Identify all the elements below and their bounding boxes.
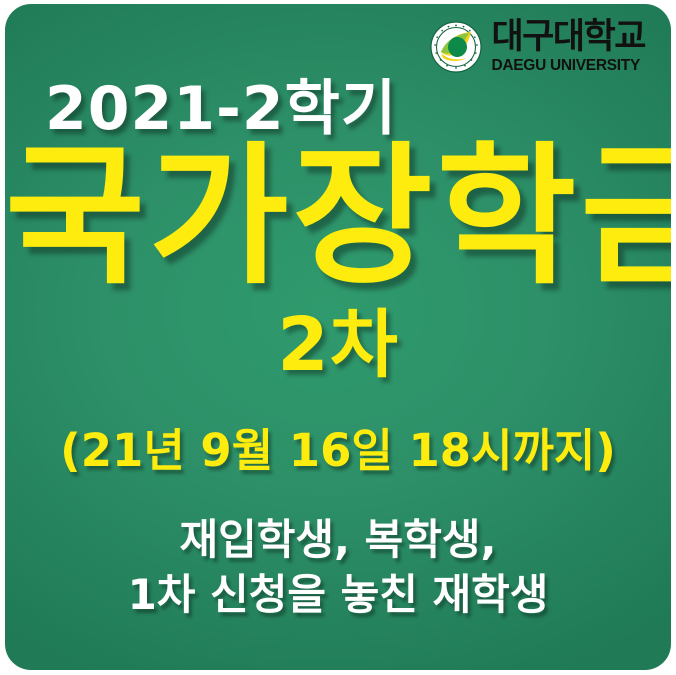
target-audience-block: 재입학생, 복학생, 1차 신청을 놓친 재학생	[5, 512, 671, 623]
scholarship-poster: 대구대학교 DAEGU UNIVERSITY 2021-2학기 국가장학금 2차…	[0, 0, 676, 675]
daegu-university-crest-icon	[430, 21, 482, 73]
poster-board: 대구대학교 DAEGU UNIVERSITY 2021-2학기 국가장학금 2차…	[5, 4, 671, 670]
target-line-2: 1차 신청을 놓친 재학생	[5, 567, 671, 622]
target-line-1: 재입학생, 복학생,	[5, 512, 671, 567]
round-label: 2차	[5, 308, 671, 382]
page-title: 국가장학금	[5, 141, 671, 293]
university-name-ko: 대구대학교	[491, 20, 645, 55]
university-name-en: DAEGU UNIVERSITY	[491, 58, 640, 74]
university-brand: 대구대학교 DAEGU UNIVERSITY	[430, 20, 645, 74]
university-name-block: 대구대학교 DAEGU UNIVERSITY	[491, 20, 645, 74]
deadline-label: (21년 9월 16일 18시까지)	[5, 428, 671, 473]
